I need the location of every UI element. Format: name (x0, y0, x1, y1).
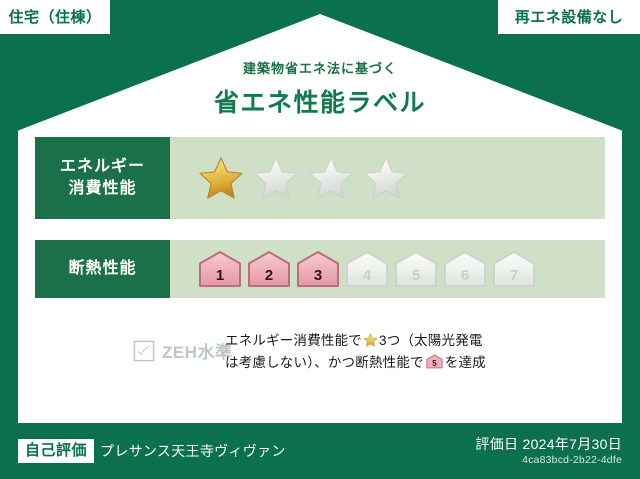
zeh-description: エネルギー消費性能で3つ（太陽光発電は考慮しない）、かつ断熱性能で5を達成 (225, 330, 486, 375)
star-rating (198, 156, 409, 200)
title-block: 建築物省エネ法に基づく 省エネ性能ラベル (0, 58, 640, 119)
energy-label-line2: 消費性能 (68, 178, 136, 200)
energy-label-root: 住宅（住棟） 再エネ設備なし 建築物省エネ法に基づく 省エネ性能ラベル エネルギ… (0, 0, 640, 479)
property-name: プレサンス天王寺ヴィヴァン (100, 441, 286, 461)
insulation-level-number: 4 (363, 268, 371, 288)
insulation-level-3: 3 (296, 250, 340, 288)
footer-bar: 自己評価 プレサンス天王寺ヴィヴァン 評価日 2024年7月30日 4ca83b… (0, 423, 640, 479)
star-icon-empty (253, 156, 299, 200)
renewable-equipment-badge: 再エネ設備なし (498, 0, 640, 34)
building-type-badge: 住宅（住棟） (0, 0, 110, 34)
svg-text:5: 5 (432, 359, 437, 368)
insulation-performance-body: 1234567 (170, 240, 605, 298)
insulation-label-text: 断熱性能 (68, 258, 136, 280)
evaluation-id: 4ca83bcd-2b22-4dfe (475, 453, 622, 468)
building-type-badge-label: 住宅（住棟） (8, 10, 101, 25)
insulation-level-7: 7 (492, 250, 536, 288)
zeh-desc-part4: を達成 (445, 355, 486, 370)
insulation-level-5-icon: 5 (426, 354, 443, 369)
insulation-level-number: 7 (510, 268, 518, 288)
self-evaluation-badge: 自己評価 (18, 439, 94, 463)
insulation-performance-label: 断熱性能 (35, 240, 170, 298)
label-subtitle: 建築物省エネ法に基づく (0, 58, 640, 77)
energy-performance-body (170, 137, 605, 219)
insulation-level-number: 1 (216, 268, 224, 288)
zeh-desc-part2: 3つ（太陽光発電 (379, 333, 483, 348)
energy-performance-label: エネルギー 消費性能 (35, 137, 170, 219)
insulation-level-number: 6 (461, 268, 469, 288)
zeh-standard-row: ZEH水準 エネルギー消費性能で3つ（太陽光発電は考慮しない）、かつ断熱性能で5… (35, 330, 605, 375)
energy-label-line1: エネルギー (60, 156, 145, 178)
insulation-level-number: 3 (314, 268, 322, 288)
evaluation-date: 評価日 2024年7月30日 (475, 435, 622, 453)
renewable-equipment-badge-label: 再エネ設備なし (515, 10, 624, 25)
insulation-level-5: 5 (394, 250, 438, 288)
zeh-standard-label: ZEH水準 (162, 338, 233, 363)
zeh-desc-part1: エネルギー消費性能で (225, 333, 362, 348)
zeh-checkbox-icon (133, 340, 155, 362)
star-icon-filled (198, 156, 244, 200)
insulation-level-number: 2 (265, 268, 273, 288)
page-title: 省エネ性能ラベル (0, 83, 640, 119)
evaluation-info: 評価日 2024年7月30日 4ca83bcd-2b22-4dfe (475, 435, 622, 468)
insulation-level-scale: 1234567 (198, 250, 536, 288)
star-icon-empty (363, 156, 409, 200)
insulation-performance-row: 断熱性能 1234567 (35, 240, 605, 298)
zeh-standard-mark: ZEH水準 (35, 330, 225, 363)
insulation-level-2: 2 (247, 250, 291, 288)
zeh-desc-part3: は考慮しない）、かつ断熱性能で (225, 355, 424, 370)
insulation-level-6: 6 (443, 250, 487, 288)
energy-performance-row: エネルギー 消費性能 (35, 137, 605, 219)
star-icon (363, 333, 378, 347)
insulation-level-number: 5 (412, 268, 420, 288)
insulation-level-1: 1 (198, 250, 242, 288)
insulation-level-4: 4 (345, 250, 389, 288)
star-icon-empty (308, 156, 354, 200)
